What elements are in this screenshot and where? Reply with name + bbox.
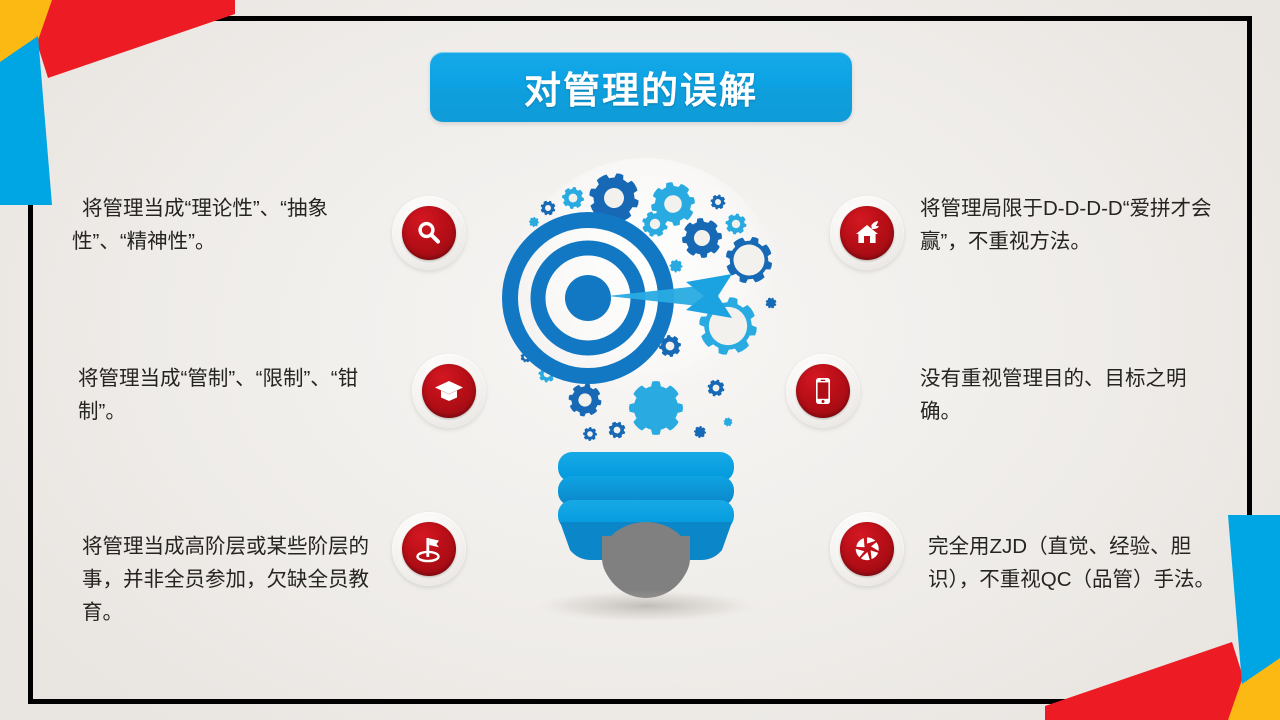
badge-right-1[interactable] [830, 196, 904, 270]
bulb-screw-base [558, 452, 734, 598]
page-title: 对管理的误解 [524, 60, 758, 114]
badge-left-3[interactable] [392, 512, 466, 586]
badge-left-2[interactable] [412, 354, 486, 428]
eco-home-icon [840, 206, 894, 260]
badge-right-2[interactable] [786, 354, 860, 428]
left-point-2-text: 将管理当成“管制”、“限制”、“钳制”。 [78, 362, 368, 428]
right-point-1-text: 将管理局限于D-D-D-D“爱拼才会赢”，不重视方法。 [920, 192, 1212, 258]
corner-decoration-top-left [0, 0, 235, 205]
left-point-3-text: 将管理当成高阶层或某些阶层的事，并非全员参加，欠缺全员教育。 [82, 530, 370, 630]
corner-decoration-bottom-right [1045, 515, 1280, 720]
aperture-icon [840, 522, 894, 576]
badge-right-3[interactable] [830, 512, 904, 586]
right-point-2-text: 没有重视管理目的、目标之明确。 [920, 362, 1212, 428]
slide-canvas: 对管理的误解 [0, 0, 1280, 720]
slide-title-bar: 对管理的误解 [430, 52, 852, 122]
smartphone-icon [796, 364, 850, 418]
badge-left-1[interactable] [392, 196, 466, 270]
lightbulb-gears-target-illustration [490, 146, 802, 626]
search-icon [402, 206, 456, 260]
graduation-cap-icon [422, 364, 476, 418]
flag-icon [402, 522, 456, 576]
